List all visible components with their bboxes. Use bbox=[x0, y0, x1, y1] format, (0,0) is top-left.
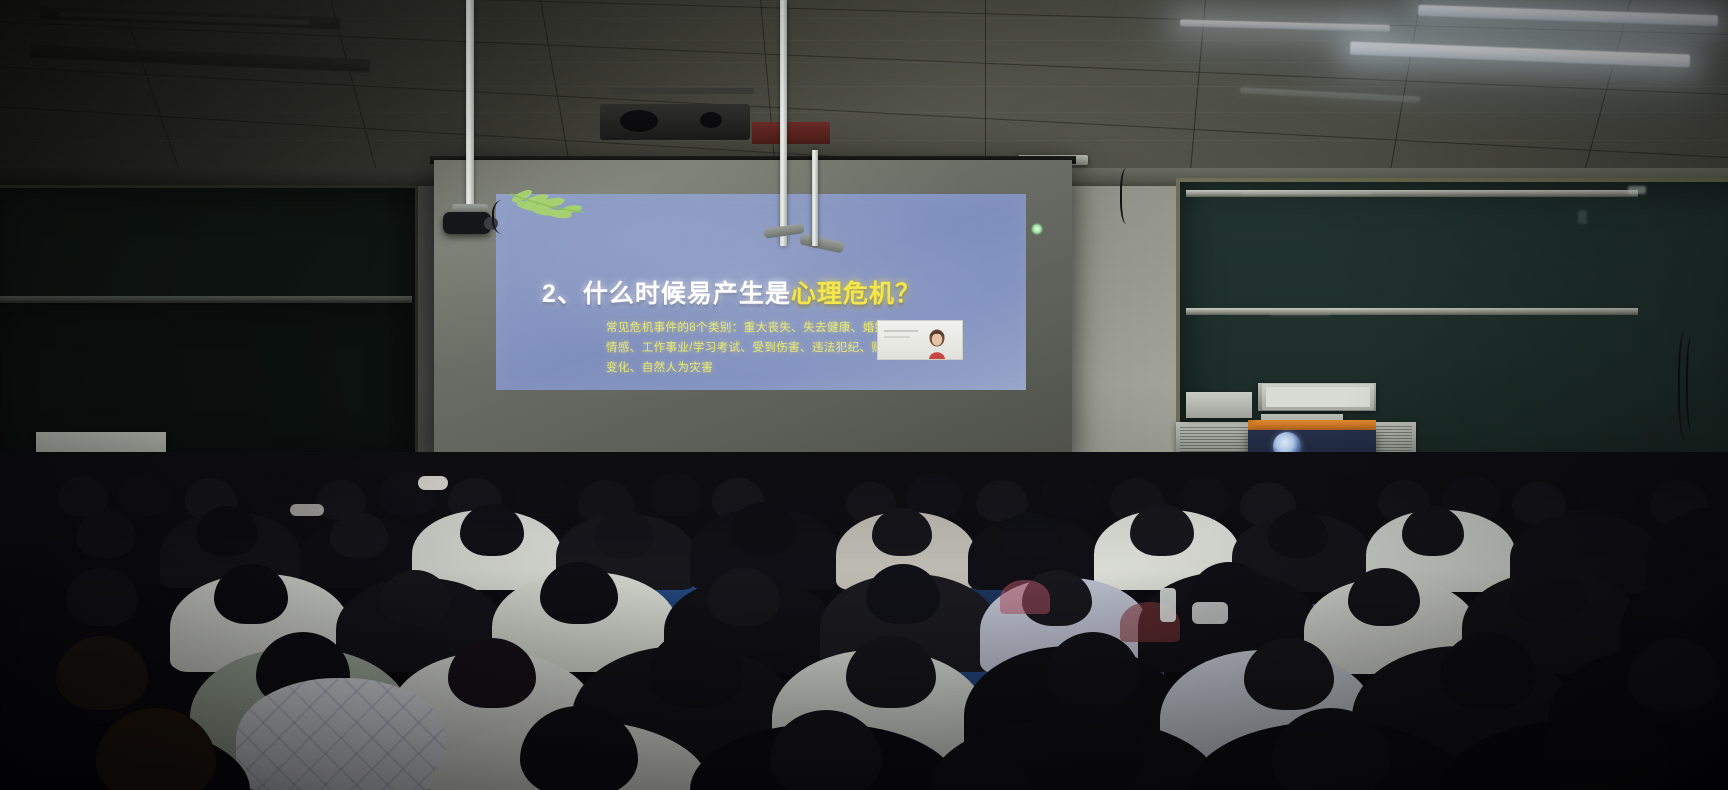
chalk-rail bbox=[0, 296, 412, 303]
presenter-webcam-inset bbox=[877, 320, 963, 360]
person-avatar-icon bbox=[924, 327, 950, 359]
student-head bbox=[66, 568, 138, 626]
student-head bbox=[196, 506, 258, 556]
speaker-cone-icon bbox=[700, 112, 722, 128]
student-head bbox=[1510, 564, 1586, 624]
projector-cable bbox=[492, 200, 518, 234]
audience-area bbox=[0, 452, 1728, 790]
student-head bbox=[1348, 568, 1420, 626]
hanging-cable bbox=[1120, 168, 1136, 224]
student-head bbox=[330, 512, 388, 558]
slide-title-plain: 2、什么时候易产生是 bbox=[542, 280, 791, 308]
student-head bbox=[1548, 510, 1612, 562]
student-head bbox=[648, 472, 702, 516]
screen-drop-pole bbox=[812, 150, 818, 246]
student-head bbox=[214, 564, 288, 624]
student-head bbox=[1000, 512, 1058, 558]
slide-title: 2、什么时候易产生是心理危机？ bbox=[542, 274, 1012, 310]
leaf-branch-icon bbox=[506, 190, 592, 232]
ceiling-cable bbox=[612, 88, 754, 94]
student-head bbox=[708, 568, 780, 626]
hanging-cable bbox=[1686, 336, 1700, 432]
presentation-slide: 2、什么时候易产生是心理危机？ 常见危机事件的8个类别：重大丧失、失去健康、婚姻… bbox=[496, 194, 1026, 390]
patterned-coat bbox=[236, 678, 446, 790]
side-counter bbox=[1186, 392, 1252, 418]
projection-screen: 2、什么时候易产生是心理危机？ 常见危机事件的8个类别：重大丧失、失去健康、婚姻… bbox=[434, 160, 1072, 460]
hair-accessory bbox=[418, 476, 448, 490]
slide-body-line: 变化、自然人为灾害 bbox=[606, 358, 1006, 378]
laser-pointer-dot bbox=[1031, 223, 1043, 235]
student-head bbox=[460, 504, 524, 556]
student-head bbox=[1040, 472, 1098, 518]
screen-drop-pole bbox=[780, 0, 787, 246]
student-head bbox=[1310, 474, 1364, 518]
podium-monitor bbox=[1262, 384, 1374, 410]
student-head bbox=[540, 562, 618, 624]
student-head bbox=[872, 508, 932, 556]
wall-trim-strip bbox=[752, 122, 830, 144]
water-bottle bbox=[1160, 588, 1176, 622]
speaker-cone-icon bbox=[620, 110, 658, 132]
lecture-hall-scene: 2、什么时候易产生是心理危机？ 常见危机事件的8个类别：重大丧失、失去健康、婚姻… bbox=[0, 0, 1728, 790]
projector-drop-pole bbox=[466, 0, 474, 214]
ceiling bbox=[0, 0, 1728, 172]
student-head bbox=[730, 502, 796, 556]
student-head bbox=[1130, 504, 1194, 556]
student-head bbox=[594, 510, 654, 558]
student-head bbox=[380, 570, 450, 626]
slide-title-highlight: 心理危机？ bbox=[791, 280, 921, 308]
student-torso bbox=[1000, 580, 1050, 614]
student-head bbox=[1268, 510, 1328, 558]
student-head bbox=[1402, 506, 1464, 556]
equipment-rack-left bbox=[1176, 422, 1254, 456]
student-head bbox=[118, 472, 172, 516]
student-head bbox=[1676, 508, 1728, 556]
student-head bbox=[76, 510, 136, 558]
student-head bbox=[866, 564, 940, 624]
face-mask bbox=[1192, 602, 1228, 624]
hair-accessory bbox=[290, 504, 324, 516]
student-head bbox=[516, 474, 568, 516]
